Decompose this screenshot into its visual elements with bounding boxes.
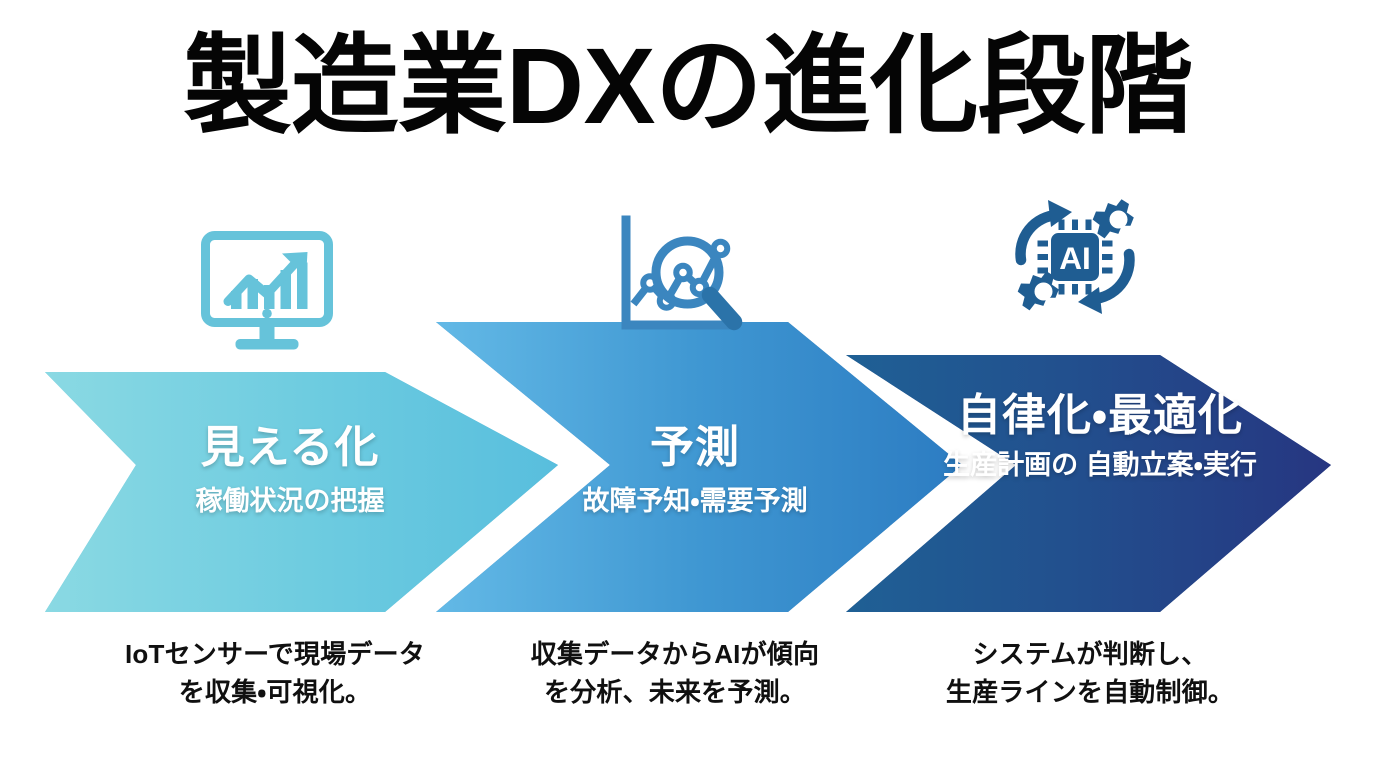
svg-text:AI: AI	[1059, 240, 1091, 276]
caption-visualize-line-2: を収集・可視化。	[55, 674, 495, 712]
caption-predict-line-1: 収集データからAIが傾向	[470, 636, 880, 674]
monitor-growth-chart-icon	[192, 216, 342, 366]
stage-subtitle-autonomy: 生産計画の 自動立案・実行	[930, 448, 1270, 483]
stage-label-visualize: 見える化 稼働状況の把握	[120, 424, 460, 519]
infographic-canvas: 製造業DXの進化段階	[0, 0, 1376, 768]
caption-autonomy-line-2: 生産ラインを自動制御。	[880, 674, 1300, 712]
caption-predict: 収集データからAIが傾向 を分析、未来を予測。	[470, 636, 880, 711]
stage-label-predict: 予測 故障予知・需要予測	[525, 424, 865, 519]
ai-chip-gears-cycle-icon: AI	[1000, 182, 1150, 332]
stage-subtitle-predict: 故障予知・需要予測	[525, 484, 865, 519]
caption-autonomy-line-1: システムが判断し、	[880, 636, 1300, 674]
caption-visualize-line-1: IoTセンサーで現場データ	[55, 636, 495, 674]
stage-title-visualize: 見える化	[120, 424, 460, 472]
stage-subtitle-autonomy-line-2: 自動立案・実行	[1086, 450, 1257, 480]
stage-title-autonomy: 自律化・最適化	[930, 392, 1270, 440]
stage-subtitle-visualize: 稼働状況の把握	[120, 484, 460, 519]
stage-subtitle-autonomy-line-1: 生産計画の	[943, 450, 1078, 480]
caption-predict-line-2: を分析、未来を予測。	[470, 674, 880, 712]
caption-visualize: IoTセンサーで現場データ を収集・可視化。	[55, 636, 495, 711]
caption-autonomy: システムが判断し、 生産ラインを自動制御。	[880, 636, 1300, 711]
page-title: 製造業DXの進化段階	[0, 22, 1376, 149]
stage-title-predict: 予測	[525, 424, 865, 472]
chart-magnifier-icon	[605, 205, 755, 355]
stage-label-autonomy: 自律化・最適化 生産計画の 自動立案・実行	[930, 392, 1270, 483]
